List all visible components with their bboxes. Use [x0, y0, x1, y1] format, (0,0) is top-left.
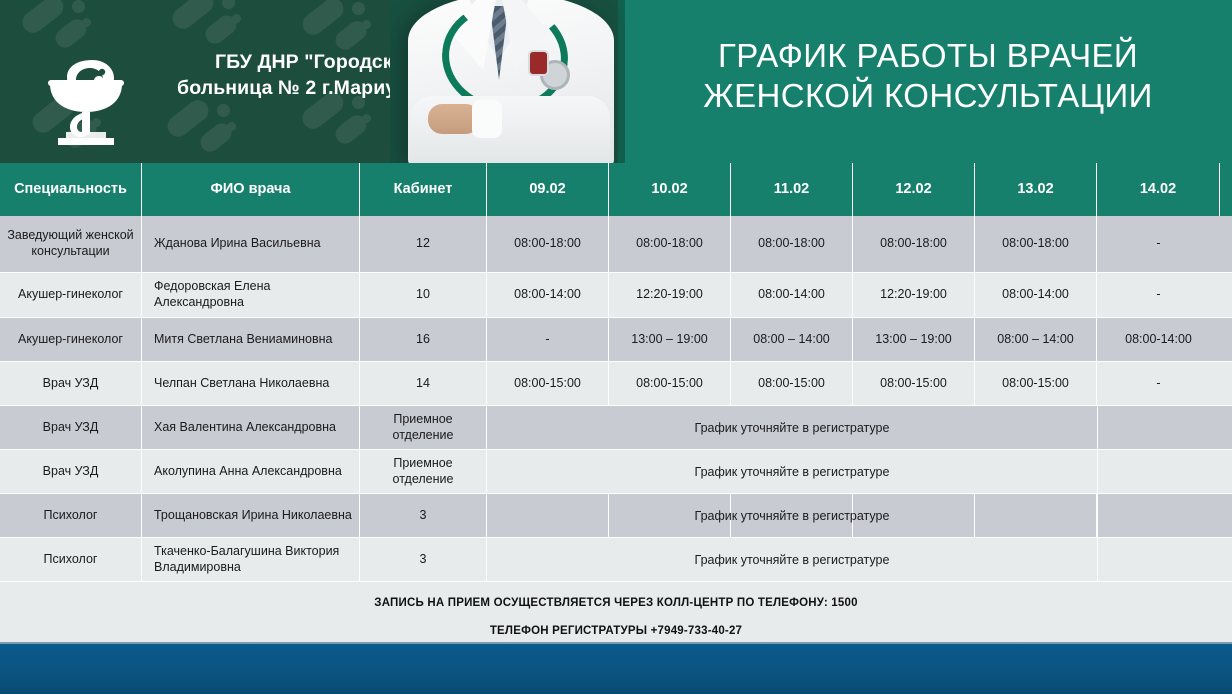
cell-day-1402: 08:00-14:00	[1097, 318, 1220, 361]
table-row: Врач УЗД Хая Валентина Александровна При…	[0, 406, 1232, 450]
cell-room: 16	[360, 318, 487, 361]
poster-footer: ЗАПИСЬ НА ПРИЕМ ОСУЩЕСТВЛЯЕТСЯ ЧЕРЕЗ КОЛ…	[0, 590, 1232, 644]
cell-day-1102: 08:00-14:00	[731, 273, 853, 317]
table-row: Психолог Ткаченко-Балагушина Виктория Вл…	[0, 538, 1232, 582]
page-title: ГРАФИК РАБОТЫ ВРАЧЕЙ ЖЕНСКОЙ КОНСУЛЬТАЦИ…	[640, 36, 1216, 117]
cell-day-1302: 08:00-14:00	[975, 273, 1097, 317]
column-header-day-1002: 10.02	[609, 163, 731, 216]
column-header-doctor: ФИО врача	[142, 163, 360, 216]
cell-doctor: Аколупина Анна Александровна	[142, 450, 360, 493]
cell-schedule-note: График уточняйте в регистратуре	[487, 450, 1098, 493]
uniform-badge-icon	[530, 52, 547, 74]
header-branding-panel: ГБУ ДНР "Городская больница № 2 г.Мариуп…	[0, 0, 625, 163]
cell-room: Приемное отделение	[360, 406, 487, 449]
bowl-of-hygieia-icon	[32, 46, 140, 154]
cell-room: 3	[360, 494, 487, 537]
doctor-photo	[390, 0, 625, 163]
schedule-note-text: График уточняйте в регистратуре	[695, 465, 890, 479]
table-row: Акушер-гинеколог Федоровская Елена Алекс…	[0, 273, 1232, 318]
cell-day-1302: 08:00-18:00	[975, 216, 1097, 272]
cell-day-1302: 08:00 – 14:00	[975, 318, 1097, 361]
cell-room: 14	[360, 362, 487, 405]
cell-specialty: Акушер-гинеколог	[0, 273, 142, 317]
cell-day-1402	[1098, 450, 1221, 493]
cell-day-1202: 13:00 – 19:00	[853, 318, 975, 361]
cell-doctor: Жданова Ирина Васильевна	[142, 216, 360, 272]
cell-doctor: Хая Валентина Александровна	[142, 406, 360, 449]
footer-callcenter-text: ЗАПИСЬ НА ПРИЕМ ОСУЩЕСТВЛЯЕТСЯ ЧЕРЕЗ КОЛ…	[0, 597, 1232, 609]
page-title-line2: ЖЕНСКОЙ КОНСУЛЬТАЦИИ	[640, 76, 1216, 116]
cell-specialty: Врач УЗД	[0, 406, 142, 449]
cell-doctor: Ткаченко-Балагушина Виктория Владимировн…	[142, 538, 360, 581]
schedule-poster: ГБУ ДНР "Городская больница № 2 г.Мариуп…	[0, 0, 1232, 694]
cell-day-1402	[1098, 406, 1221, 449]
page-title-line1: ГРАФИК РАБОТЫ ВРАЧЕЙ	[640, 36, 1216, 76]
cell-day-1002: 13:00 – 19:00	[609, 318, 731, 361]
table-row: Заведующий женской консультации Жданова …	[0, 216, 1232, 273]
cell-doctor: Трощановская Ирина Николаевна	[142, 494, 360, 537]
table-row: Психолог Трощановская Ирина Николаевна 3…	[0, 494, 1232, 538]
cell-doctor: Федоровская Елена Александровна	[142, 273, 360, 317]
table-header-row: Специальность ФИО врача Кабинет 09.02 10…	[0, 163, 1232, 216]
cell-room: 10	[360, 273, 487, 317]
cell-day-1102: 08:00-15:00	[731, 362, 853, 405]
schedule-note-text: График уточняйте в регистратуре	[695, 553, 890, 567]
cell-day-1002: 08:00-18:00	[609, 216, 731, 272]
cell-day-1002: 08:00-15:00	[609, 362, 731, 405]
column-header-day-1402: 14.02	[1097, 163, 1220, 216]
cell-day-1202: 12:20-19:00	[853, 273, 975, 317]
cell-day-1402	[1098, 494, 1221, 537]
cell-specialty: Психолог	[0, 494, 142, 537]
cell-day-1402: -	[1097, 273, 1220, 317]
cell-day-1402: -	[1097, 362, 1220, 405]
cell-day-1202: 08:00-15:00	[853, 362, 975, 405]
cell-specialty: Психолог	[0, 538, 142, 581]
schedule-note-text: График уточняйте в регистратуре	[695, 421, 890, 435]
schedule-note-text: График уточняйте в регистратуре	[695, 509, 890, 523]
column-header-day-0902: 09.02	[487, 163, 609, 216]
cell-day-1302: 08:00-15:00	[975, 362, 1097, 405]
cell-day-1002: 12:20-19:00	[609, 273, 731, 317]
cell-specialty: Заведующий женской консультации	[0, 216, 142, 272]
schedule-table: Специальность ФИО врача Кабинет 09.02 10…	[0, 163, 1232, 582]
cell-day-0902: 08:00-14:00	[487, 273, 609, 317]
table-row: Акушер-гинеколог Митя Светлана Вениамино…	[0, 318, 1232, 362]
cell-day-1402	[1098, 538, 1221, 581]
column-header-room: Кабинет	[360, 163, 487, 216]
cell-schedule-note: График уточняйте в регистратуре	[487, 538, 1098, 581]
cell-schedule-note: График уточняйте в регистратуре	[487, 494, 1098, 537]
cell-room: 3	[360, 538, 487, 581]
column-header-day-1202: 12.02	[853, 163, 975, 216]
cell-room: Приемное отделение	[360, 450, 487, 493]
column-header-day-1102: 11.02	[731, 163, 853, 216]
table-row: Врач УЗД Аколупина Анна Александровна Пр…	[0, 450, 1232, 494]
cell-specialty: Акушер-гинеколог	[0, 318, 142, 361]
cell-day-0902: -	[487, 318, 609, 361]
table-row: Врач УЗД Челпан Светлана Николаевна 14 0…	[0, 362, 1232, 406]
cell-day-1402: -	[1097, 216, 1220, 272]
cell-day-0902: 08:00-18:00	[487, 216, 609, 272]
cell-room: 12	[360, 216, 487, 272]
column-header-specialty: Специальность	[0, 163, 142, 216]
cell-day-0902: 08:00-15:00	[487, 362, 609, 405]
footer-registry-phone-text: ТЕЛЕФОН РЕГИСТРАТУРЫ +7949-733-40-27	[0, 625, 1232, 637]
column-header-day-1302: 13.02	[975, 163, 1097, 216]
cell-day-1202: 08:00-18:00	[853, 216, 975, 272]
cell-schedule-note: График уточняйте в регистратуре	[487, 406, 1098, 449]
cell-day-1102: 08:00-18:00	[731, 216, 853, 272]
cell-doctor: Челпан Светлана Николаевна	[142, 362, 360, 405]
poster-header: ГБУ ДНР "Городская больница № 2 г.Мариуп…	[0, 0, 1232, 163]
cell-specialty: Врач УЗД	[0, 362, 142, 405]
cell-day-1102: 08:00 – 14:00	[731, 318, 853, 361]
footer-blue-bar	[0, 644, 1232, 694]
cell-specialty: Врач УЗД	[0, 450, 142, 493]
cell-doctor: Митя Светлана Вениаминовна	[142, 318, 360, 361]
